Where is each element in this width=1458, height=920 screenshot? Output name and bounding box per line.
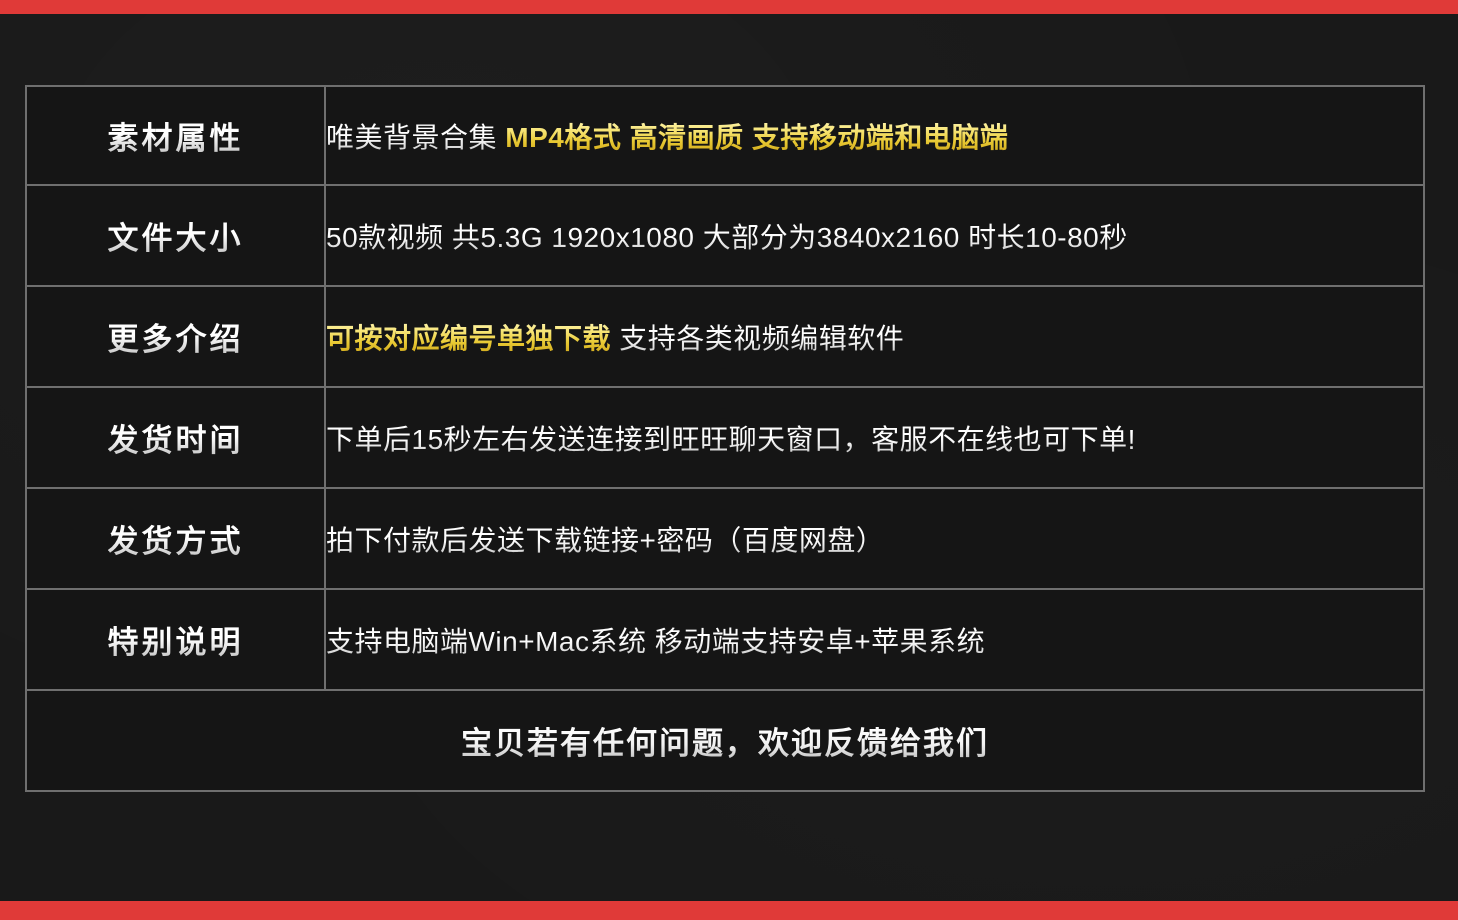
table-row: 更多介绍可按对应编号单独下载 支持各类视频编辑软件 bbox=[25, 287, 1425, 388]
spec-value-text: 拍下付款后发送下载链接+密码（百度网盘） bbox=[326, 525, 884, 556]
spec-label-cell: 更多介绍 bbox=[25, 287, 326, 388]
spec-label-text: 特别说明 bbox=[108, 617, 244, 662]
table-row: 发货时间下单后15秒左右发送连接到旺旺聊天窗口，客服不在线也可下单! bbox=[25, 388, 1425, 489]
spec-value-highlight: 可按对应编号单独下载 bbox=[326, 323, 611, 354]
spec-table-body: 素材属性唯美背景合集 MP4格式 高清画质 支持移动端和电脑端文件大小50款视频… bbox=[25, 85, 1425, 792]
spec-value-text: 下单后15秒左右发送连接到旺旺聊天窗口，客服不在线也可下单! bbox=[326, 424, 1136, 455]
spec-value-text: 唯美背景合集 bbox=[326, 122, 505, 153]
feedback-note-cell: 宝贝若有任何问题，欢迎反馈给我们 bbox=[25, 691, 1425, 792]
spec-label-cell: 文件大小 bbox=[25, 186, 326, 287]
spec-value-cell: 下单后15秒左右发送连接到旺旺聊天窗口，客服不在线也可下单! bbox=[326, 388, 1425, 489]
spec-label-cell: 发货时间 bbox=[25, 388, 326, 489]
table-row: 素材属性唯美背景合集 MP4格式 高清画质 支持移动端和电脑端 bbox=[25, 85, 1425, 186]
spec-table: 素材属性唯美背景合集 MP4格式 高清画质 支持移动端和电脑端文件大小50款视频… bbox=[25, 85, 1425, 792]
spec-label-cell: 特别说明 bbox=[25, 590, 326, 691]
spec-label-text: 素材属性 bbox=[108, 113, 244, 158]
spec-label-text: 更多介绍 bbox=[108, 314, 244, 359]
table-row: 文件大小50款视频 共5.3G 1920x1080 大部分为3840x2160 … bbox=[25, 186, 1425, 287]
spec-value-cell: 唯美背景合集 MP4格式 高清画质 支持移动端和电脑端 bbox=[326, 85, 1425, 186]
spec-value-cell: 50款视频 共5.3G 1920x1080 大部分为3840x2160 时长10… bbox=[326, 186, 1425, 287]
spec-value-text: 50款视频 共5.3G 1920x1080 大部分为3840x2160 时长10… bbox=[326, 222, 1128, 253]
top-accent-strip bbox=[0, 0, 1458, 14]
spec-value-cell: 可按对应编号单独下载 支持各类视频编辑软件 bbox=[326, 287, 1425, 388]
page-canvas: 素材属性唯美背景合集 MP4格式 高清画质 支持移动端和电脑端文件大小50款视频… bbox=[0, 14, 1458, 901]
table-row: 特别说明支持电脑端Win+Mac系统 移动端支持安卓+苹果系统 bbox=[25, 590, 1425, 691]
spec-label-text: 文件大小 bbox=[108, 213, 244, 258]
feedback-note-text: 宝贝若有任何问题，欢迎反馈给我们 bbox=[461, 726, 989, 761]
spec-value-text: 支持电脑端Win+Mac系统 移动端支持安卓+苹果系统 bbox=[326, 626, 985, 657]
spec-label-cell: 发货方式 bbox=[25, 489, 326, 590]
table-footer-row: 宝贝若有任何问题，欢迎反馈给我们 bbox=[25, 691, 1425, 792]
spec-value-text: 支持各类视频编辑软件 bbox=[611, 323, 904, 354]
spec-value-cell: 拍下付款后发送下载链接+密码（百度网盘） bbox=[326, 489, 1425, 590]
spec-label-cell: 素材属性 bbox=[25, 85, 326, 186]
table-row: 发货方式拍下付款后发送下载链接+密码（百度网盘） bbox=[25, 489, 1425, 590]
spec-label-text: 发货方式 bbox=[108, 516, 244, 561]
bottom-accent-strip bbox=[0, 901, 1458, 920]
spec-label-text: 发货时间 bbox=[108, 415, 244, 460]
spec-value-highlight: MP4格式 高清画质 支持移动端和电脑端 bbox=[505, 122, 1008, 153]
spec-value-cell: 支持电脑端Win+Mac系统 移动端支持安卓+苹果系统 bbox=[326, 590, 1425, 691]
